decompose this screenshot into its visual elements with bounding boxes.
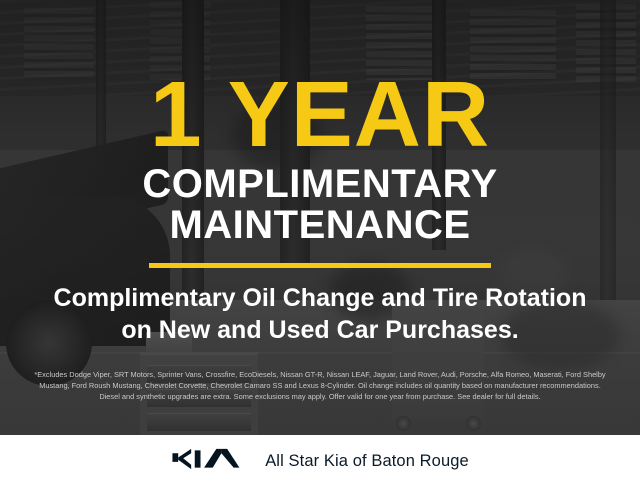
headline-1-year: 1 YEAR xyxy=(150,74,490,156)
subheadline-maintenance: MAINTENANCE xyxy=(142,205,497,247)
yellow-divider-rule xyxy=(149,263,491,268)
promotional-banner: 1 YEAR COMPLIMENTARY MAINTENANCE Complim… xyxy=(0,0,640,488)
disclaimer-line-2: Mustang, Ford Roush Mustang, Chevrolet C… xyxy=(11,380,629,391)
dealer-name: All Star Kia of Baton Rouge xyxy=(265,452,469,471)
promo-line-1: Complimentary Oil Change and Tire Rotati… xyxy=(54,283,587,315)
banner-content: 1 YEAR COMPLIMENTARY MAINTENANCE Complim… xyxy=(0,0,640,488)
subheadline-complimentary: COMPLIMENTARY xyxy=(142,164,497,206)
disclaimer-text: *Excludes Dodge Viper, SRT Motors, Sprin… xyxy=(11,369,629,403)
disclaimer-line-3: Diesel and synthetic upgrades are extra.… xyxy=(11,391,629,402)
kia-logo-icon xyxy=(171,448,243,475)
disclaimer-line-1: *Excludes Dodge Viper, SRT Motors, Sprin… xyxy=(11,369,629,380)
subheadline-block: COMPLIMENTARY MAINTENANCE xyxy=(142,164,497,247)
promo-description: Complimentary Oil Change and Tire Rotati… xyxy=(54,283,587,347)
promo-line-2: on New and Used Car Purchases. xyxy=(54,315,587,347)
footer-bar: All Star Kia of Baton Rouge xyxy=(0,435,640,488)
